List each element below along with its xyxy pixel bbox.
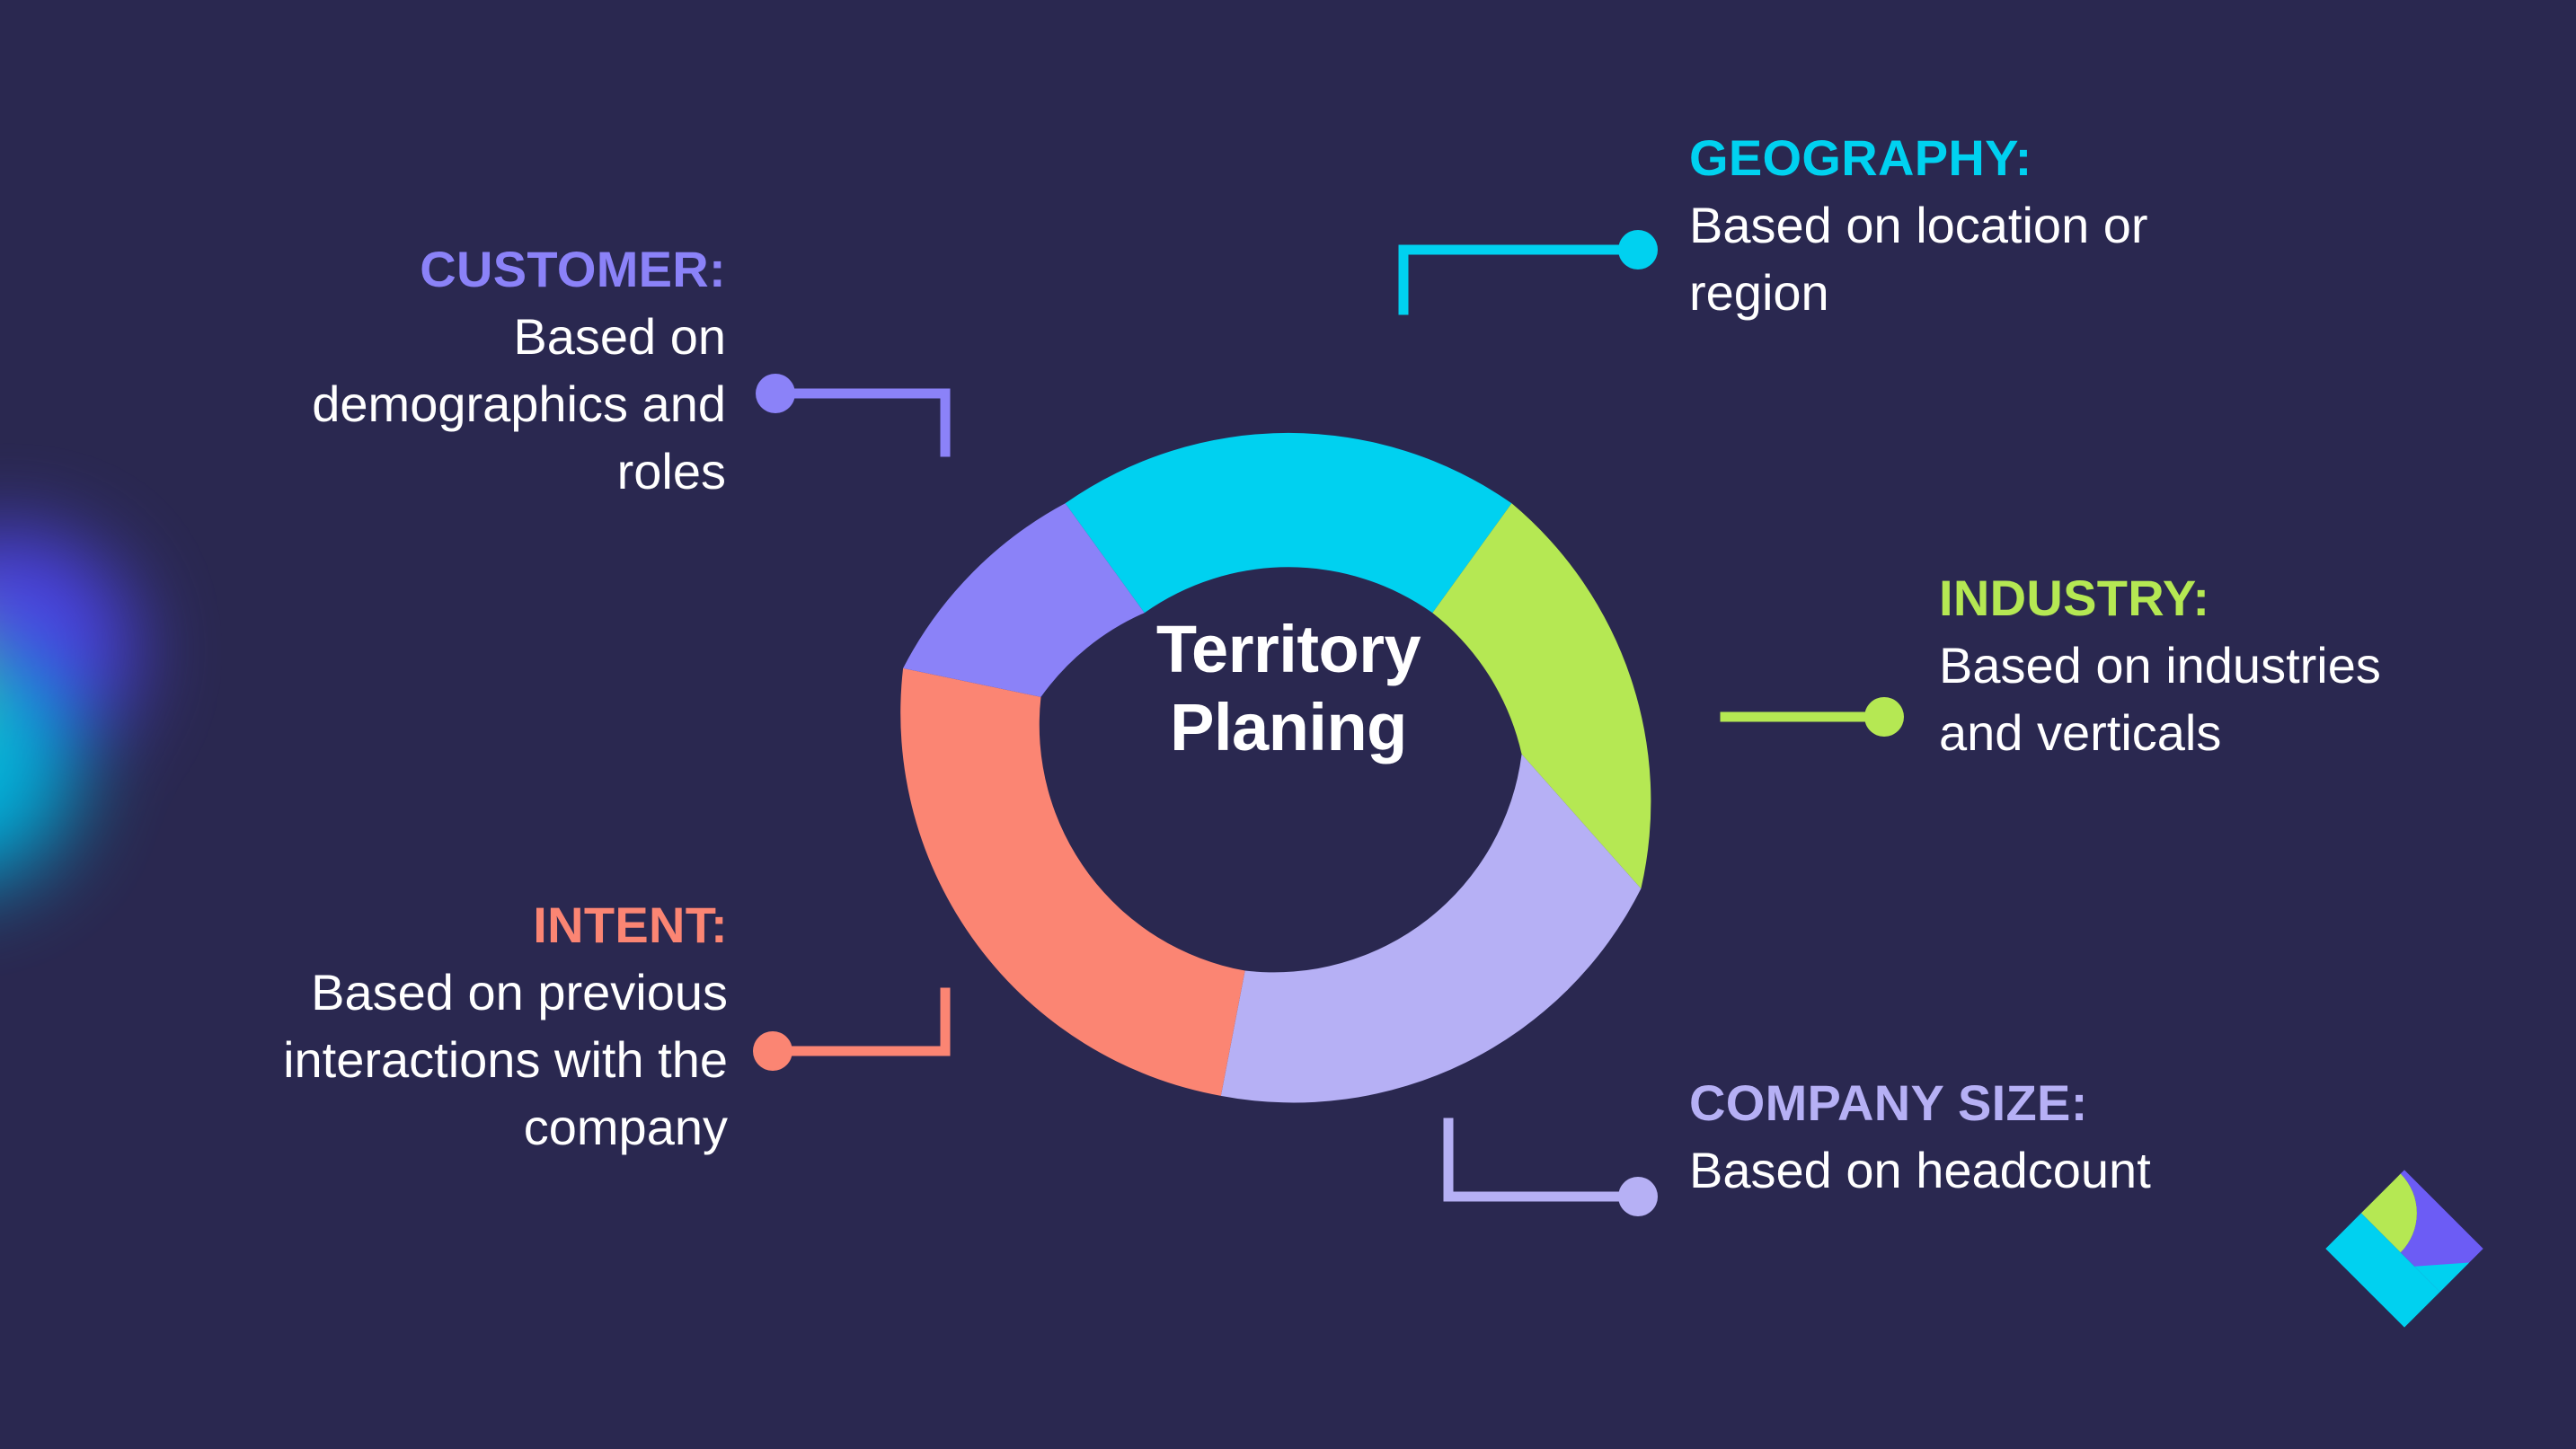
connector-geography: [1403, 250, 1628, 310]
callout-industry[interactable]: INDUSTRY: Based on industries and vertic…: [1939, 564, 2442, 766]
callout-industry-description: Based on industries and verticals: [1939, 632, 2442, 766]
callout-customer-title: CUSTOMER:: [270, 235, 726, 303]
connector-dot-geography: [1618, 230, 1658, 269]
callout-intent-description: Based on previous interactions with the …: [162, 959, 728, 1161]
connector-company-size: [1448, 1123, 1628, 1197]
donut-segment-intent[interactable]: [900, 668, 1244, 1096]
callout-geography-description: Based on location or region: [1689, 191, 2264, 326]
callout-geography-title: GEOGRAPHY:: [1689, 124, 2264, 191]
infographic-canvas: Territory Planing GEOGRAPHY: Based on lo…: [0, 0, 2576, 1449]
callout-company-size[interactable]: COMPANY SIZE: Based on headcount: [1689, 1069, 2264, 1204]
connector-dot-company-size: [1618, 1177, 1658, 1216]
callout-company-size-description: Based on headcount: [1689, 1136, 2264, 1204]
connector-dot-intent: [753, 1031, 792, 1071]
callout-intent[interactable]: INTENT: Based on previous interactions w…: [162, 891, 728, 1161]
callout-industry-title: INDUSTRY:: [1939, 564, 2442, 632]
donut-segment-geography[interactable]: [1066, 433, 1512, 613]
callout-customer[interactable]: CUSTOMER: Based on demographics and role…: [270, 235, 726, 505]
brand-logo[interactable]: [2324, 1168, 2485, 1330]
callout-geography[interactable]: GEOGRAPHY: Based on location or region: [1689, 124, 2264, 326]
connector-dot-customer: [756, 374, 795, 413]
callout-customer-description: Based on demographics and roles: [270, 303, 726, 505]
callout-company-size-title: COMPANY SIZE:: [1689, 1069, 2264, 1136]
glow-blob-cyan: [0, 638, 81, 907]
donut-chart: [899, 335, 1677, 1113]
connector-dot-industry: [1864, 697, 1904, 737]
callout-intent-title: INTENT:: [162, 891, 728, 959]
glow-blob-purple: [0, 530, 144, 800]
